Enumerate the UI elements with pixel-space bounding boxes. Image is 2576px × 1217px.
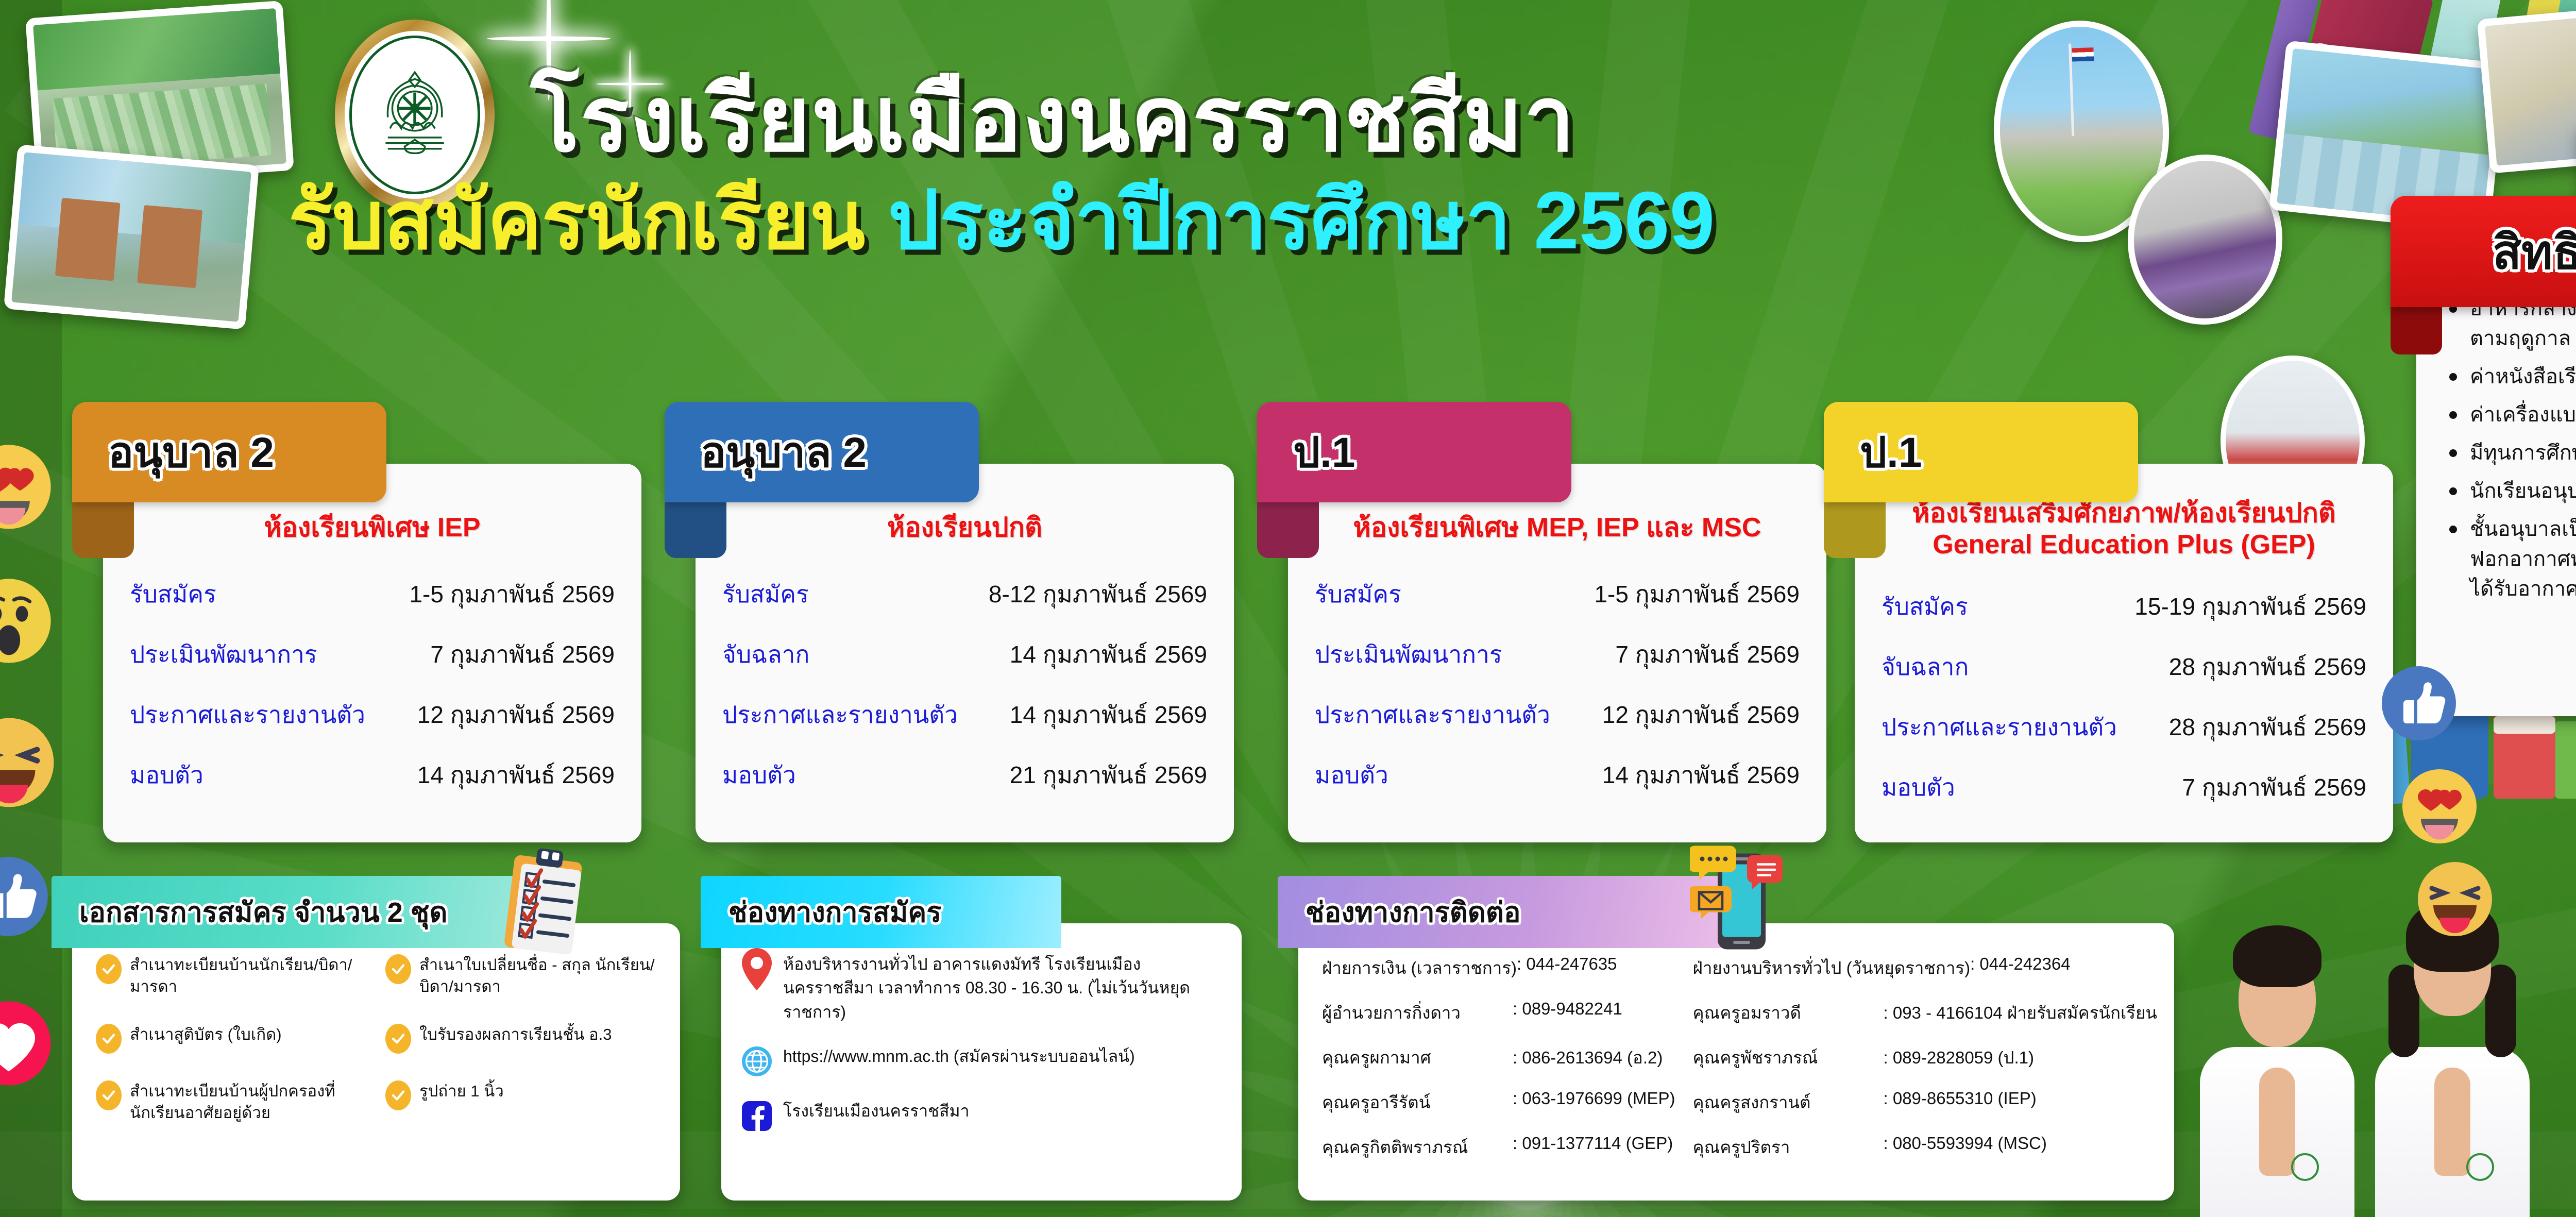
- card-tab-label: อนุบาล 2: [108, 419, 274, 486]
- schedule-row-label: ประกาศและรายงานตัว: [722, 696, 958, 734]
- contact-name: ฝ่ายการเงิน (เวลาราชการ): [1322, 954, 1517, 982]
- schedule-row: รับสมัคร1-5 กุมภาพันธ์ 2569: [130, 576, 615, 613]
- privilege-ribbon-fold: [2391, 306, 2442, 354]
- card-program-name: ห้องเรียนปกติ: [722, 512, 1207, 544]
- schedule-row: มอบตัว14 กุมภาพันธ์ 2569: [130, 756, 615, 794]
- apply-channel-row: https://www.mnm.ac.th (สมัครผ่านระบบออนไ…: [742, 1044, 1224, 1078]
- schedule-row-date: 7 กุมภาพันธ์ 2569: [2182, 769, 2366, 806]
- card-rows: รับสมัคร15-19 กุมภาพันธ์ 2569จับฉลาก28 ก…: [1882, 588, 2366, 806]
- contact-phone[interactable]: : 086-2613694 (อ.2): [1513, 1044, 1663, 1071]
- schedule-row: ประกาศและรายงานตัว14 กุมภาพันธ์ 2569: [722, 696, 1207, 734]
- location-pin-icon: [742, 952, 772, 986]
- schedule-row-date: 1-5 กุมภาพันธ์ 2569: [409, 576, 615, 613]
- privileges-title: สิทธิพิเศษ: [2493, 214, 2576, 290]
- schedule-row-label: มอบตัว: [1882, 769, 1955, 806]
- schedule-row-date: 15-19 กุมภาพันธ์ 2569: [2134, 588, 2366, 626]
- schedule-row-label: จับฉลาก: [1882, 648, 1969, 686]
- card-rows: รับสมัคร1-5 กุมภาพันธ์ 2569ประเมินพัฒนาก…: [130, 576, 615, 794]
- contact-name: คุณครูสงกรานต์: [1693, 1089, 1884, 1116]
- contact-row: คุณครูผกามาศ: 086-2613694 (อ.2): [1322, 1044, 1675, 1071]
- apply-channels-section: ห้องบริหารงานทั่วไป อาคารแดงมัทรี โรงเรี…: [701, 876, 1247, 1201]
- contact-section: ฝ่ายการเงิน (เวลาราชการ): 044-247635ฝ่าย…: [1278, 876, 2195, 1201]
- schedule-row-label: รับสมัคร: [722, 576, 809, 613]
- contact-name: คุณครูพัชราภรณ์: [1693, 1044, 1884, 1071]
- contact-row: คุณครูสงกรานต์: 089-8655310 (IEP): [1693, 1089, 2157, 1116]
- schedule-row-date: 21 กุมภาพันธ์ 2569: [1010, 756, 1207, 794]
- schedule-row: รับสมัคร8-12 กุมภาพันธ์ 2569: [722, 576, 1207, 613]
- apply-channel-text[interactable]: https://www.mnm.ac.th (สมัครผ่านระบบออนไ…: [783, 1044, 1135, 1068]
- contact-phone[interactable]: : 044-247635: [1517, 954, 1617, 982]
- subtitle-part-b: ประจำปีการศึกษา 2569: [888, 175, 1715, 266]
- card-tab-fold: [1824, 501, 1886, 558]
- contact-phone[interactable]: : 089-8655310 (IEP): [1884, 1089, 2037, 1116]
- apply-channel-row: ห้องบริหารงานทั่วไป อาคารแดงมัทรี โรงเรี…: [742, 952, 1224, 1024]
- document-item-label: สำเนาทะเบียนบ้านผู้ปกครองที่นักเรียนอาศั…: [130, 1080, 370, 1123]
- card-program-name: ห้องเรียนพิเศษ MEP, IEP และ MSC: [1315, 512, 1800, 544]
- card-tab-fold: [665, 501, 726, 558]
- contact-name: ผู้อำนวยการกิ่งดาว: [1322, 999, 1513, 1026]
- contact-panel: ฝ่ายการเงิน (เวลาราชการ): 044-247635ฝ่าย…: [1298, 923, 2174, 1201]
- schedule-row-label: รับสมัคร: [1882, 588, 1968, 626]
- schedule-row-date: 8-12 กุมภาพันธ์ 2569: [989, 576, 1207, 613]
- apply-channel-text[interactable]: โรงเรียนเมืองนครราชสีมา: [783, 1099, 970, 1123]
- check-icon: [385, 1024, 411, 1054]
- facebook-icon: [742, 1099, 772, 1133]
- contact-phone[interactable]: : 093 - 4166104 ฝ่ายรับสมัครนักเรียน: [1884, 999, 2157, 1026]
- contact-row: คุณครูอารีรัตน์: 063-1976699 (MEP): [1322, 1089, 1675, 1116]
- document-item-label: สำเนาสูติบัตร (ใบเกิด): [130, 1024, 282, 1045]
- card-rows: รับสมัคร1-5 กุมภาพันธ์ 2569ประเมินพัฒนาก…: [1315, 576, 1800, 794]
- document-item: สำเนาทะเบียนบ้านผู้ปกครองที่นักเรียนอาศั…: [96, 1080, 370, 1123]
- schedule-row: มอบตัว21 กุมภาพันธ์ 2569: [722, 756, 1207, 794]
- contact-name: คุณครูปริตรา: [1693, 1134, 1884, 1161]
- apply-channels-panel: ห้องบริหารงานทั่วไป อาคารแดงมัทรี โรงเรี…: [721, 923, 1242, 1201]
- contact-row: คุณครูกิตติพราภรณ์: 091-1377114 (GEP): [1322, 1134, 1675, 1161]
- schedule-row: ประเมินพัฒนาการ7 กุมภาพันธ์ 2569: [130, 636, 615, 673]
- card-tab: อนุบาล 2: [72, 402, 386, 502]
- schedule-row-label: มอบตัว: [1315, 756, 1388, 794]
- globe-icon: [742, 1046, 772, 1076]
- contact-phone[interactable]: : 089-9482241: [1513, 999, 1622, 1026]
- card-tab-label: ป.1: [1293, 419, 1355, 486]
- schedule-row-date: 14 กุมภาพันธ์ 2569: [1602, 756, 1800, 794]
- document-item-label: ใบรับรองผลการเรียนชั้น อ.3: [419, 1024, 612, 1045]
- card-tab: อนุบาล 2: [665, 402, 979, 502]
- schedule-row-date: 28 กุมภาพันธ์ 2569: [2169, 708, 2366, 746]
- privilege-item: ชั้นอนุบาลเป็นห้องเรียนปรับอากาศทุกห้อง …: [2446, 514, 2576, 604]
- document-item-label: สำเนาทะเบียนบ้านนักเรียน/บิดา/มารดา: [130, 954, 370, 997]
- document-item: สำเนาทะเบียนบ้านนักเรียน/บิดา/มารดา: [96, 954, 370, 997]
- check-icon: [96, 954, 122, 984]
- clipboard-icon: [499, 843, 589, 961]
- schedule-row: มอบตัว14 กุมภาพันธ์ 2569: [1315, 756, 1800, 794]
- contact-name: คุณครูกิตติพราภรณ์: [1322, 1134, 1513, 1161]
- contact-row: คุณครูปริตรา: 080-5593994 (MSC): [1693, 1134, 2157, 1161]
- schedule-row-label: ประกาศและรายงานตัว: [1882, 708, 2117, 746]
- photo-students-greeting: [2179, 886, 2571, 1217]
- contact-phone[interactable]: : 080-5593994 (MSC): [1884, 1134, 2047, 1161]
- wow-emoji: [0, 577, 53, 665]
- card-body: ห้องเรียนพิเศษ IEPรับสมัคร1-5 กุมภาพันธ์…: [103, 464, 641, 842]
- apply-channel-text[interactable]: ห้องบริหารงานทั่วไป อาคารแดงมัทรี โรงเรี…: [783, 952, 1224, 1024]
- like-emoji: [0, 855, 49, 938]
- love-emoji: [0, 1000, 53, 1087]
- privileges-header: สิทธิพิเศษ: [2391, 196, 2576, 307]
- program-line-1: ห้องเรียนเสริมศักยภาพ/ห้องเรียนปกติ: [1882, 498, 2366, 529]
- contact-phone[interactable]: : 044-242364: [1970, 954, 2071, 982]
- card-tab-label: ป.1: [1860, 419, 1922, 486]
- card-rows: รับสมัคร8-12 กุมภาพันธ์ 2569จับฉลาก14 กุ…: [722, 576, 1207, 794]
- schedule-row-date: 12 กุมภาพันธ์ 2569: [1602, 696, 1800, 734]
- document-item: สำเนาสูติบัตร (ใบเกิด): [96, 1024, 370, 1054]
- contact-phone[interactable]: : 091-1377114 (GEP): [1513, 1134, 1673, 1161]
- contact-name: คุณครูผกามาศ: [1322, 1044, 1513, 1071]
- card-body: ห้องเรียนเสริมศักยภาพ/ห้องเรียนปกติGener…: [1855, 464, 2393, 842]
- heart-eyes-emoji-mid: [2401, 768, 2478, 845]
- schedule-row-label: รับสมัคร: [130, 576, 216, 613]
- schedule-row-date: 12 กุมภาพันธ์ 2569: [417, 696, 615, 734]
- schedule-row-date: 7 กุมภาพันธ์ 2569: [430, 636, 615, 673]
- schedule-row: รับสมัคร15-19 กุมภาพันธ์ 2569: [1882, 588, 2366, 626]
- schedule-row-date: 14 กุมภาพันธ์ 2569: [417, 756, 615, 794]
- card-tab: ป.1: [1257, 402, 1571, 502]
- student-girl-figure: [2365, 908, 2540, 1217]
- schedule-row: ประเมินพัฒนาการ7 กุมภาพันธ์ 2569: [1315, 636, 1800, 673]
- schedule-card-2: ห้องเรียนพิเศษ MEP, IEP และ MSCรับสมัคร1…: [1257, 402, 1826, 842]
- globe-icon: [742, 1044, 772, 1078]
- haha-emoji-bottom: [2416, 860, 2494, 938]
- apply-channels-list: ห้องบริหารงานทั่วไป อาคารแดงมัทรี โรงเรี…: [742, 952, 1224, 1133]
- document-item: สำเนาใบเปลี่ยนชื่อ - สกุล นักเรียน/บิดา/…: [385, 954, 659, 997]
- photo-classroom-a: [2477, 2, 2576, 174]
- contact-row: คุณครูอมราวดี: 093 - 4166104 ฝ่ายรับสมัค…: [1693, 999, 2157, 1026]
- privileges-total: รวม 1,500 บาท: [2446, 615, 2576, 648]
- contact-row: ผู้อำนวยการกิ่งดาว: 089-9482241: [1322, 999, 1675, 1026]
- contact-phone[interactable]: : 089-2828059 (ป.1): [1884, 1044, 2034, 1071]
- document-item: รูปถ่าย 1 นิ้ว: [385, 1080, 659, 1123]
- documents-section: สำเนาทะเบียนบ้านนักเรียน/บิดา/มารดาสำเนา…: [52, 876, 680, 1201]
- program-line-2: General Education Plus (GEP): [1882, 529, 2366, 561]
- check-icon: [96, 1080, 122, 1110]
- schedule-row: จับฉลาก28 กุมภาพันธ์ 2569: [1882, 648, 2366, 686]
- apply-channels-title: ช่องทางการสมัคร: [728, 890, 941, 934]
- card-body: ห้องเรียนพิเศษ MEP, IEP และ MSCรับสมัคร1…: [1288, 464, 1826, 842]
- like-emoji-mid: [2380, 665, 2458, 742]
- schedule-row-label: มอบตัว: [722, 756, 796, 794]
- card-program-name: ห้องเรียนเสริมศักยภาพ/ห้องเรียนปกติGener…: [1882, 498, 2366, 561]
- card-tab-fold: [72, 501, 134, 558]
- card-program-name: ห้องเรียนพิเศษ IEP: [130, 512, 615, 544]
- schedule-row-date: 14 กุมภาพันธ์ 2569: [1010, 636, 1207, 673]
- contact-phone[interactable]: : 063-1976699 (MEP): [1513, 1089, 1675, 1116]
- schedule-row-label: ประกาศและรายงานตัว: [1315, 696, 1550, 734]
- document-item-label: สำเนาใบเปลี่ยนชื่อ - สกุล นักเรียน/บิดา/…: [419, 954, 659, 997]
- schedule-row: ประกาศและรายงานตัว28 กุมภาพันธ์ 2569: [1882, 708, 2366, 746]
- privilege-item: ค่าเครื่องแบบนักเรียน: [2446, 400, 2576, 430]
- documents-panel: สำเนาทะเบียนบ้านนักเรียน/บิดา/มารดาสำเนา…: [72, 923, 680, 1201]
- contact-grid: ฝ่ายการเงิน (เวลาราชการ): 044-247635ฝ่าย…: [1322, 954, 2154, 1161]
- documents-grid: สำเนาทะเบียนบ้านนักเรียน/บิดา/มารดาสำเนา…: [96, 954, 659, 1123]
- schedule-card-1: ห้องเรียนปกติรับสมัคร8-12 กุมภาพันธ์ 256…: [665, 402, 1234, 842]
- contact-row: คุณครูพัชราภรณ์: 089-2828059 (ป.1): [1693, 1044, 2157, 1071]
- card-body: ห้องเรียนปกติรับสมัคร8-12 กุมภาพันธ์ 256…: [696, 464, 1234, 842]
- subtitle-part-a: รับสมัครนักเรียน: [289, 175, 888, 266]
- check-icon: [385, 1080, 411, 1110]
- contact-header: ช่องทางการติดต่อ: [1278, 876, 1741, 948]
- schedule-card-3: ห้องเรียนเสริมศักยภาพ/ห้องเรียนปกติGener…: [1824, 402, 2393, 842]
- apply-channel-row: โรงเรียนเมืองนครราชสีมา: [742, 1099, 1224, 1133]
- schedule-row-date: 7 กุมภาพันธ์ 2569: [1615, 636, 1800, 673]
- contact-row: ฝ่ายการเงิน (เวลาราชการ): 044-247635: [1322, 954, 1675, 982]
- privilege-item: นักเรียนอนุบาล 2 ได้รับเสื้อพละฟรี: [2446, 476, 2576, 506]
- schedule-row-label: ประเมินพัฒนาการ: [1315, 636, 1502, 673]
- schedule-row: ประกาศและรายงานตัว12 กุมภาพันธ์ 2569: [1315, 696, 1800, 734]
- check-icon: [385, 954, 411, 984]
- schedule-row: ประกาศและรายงานตัว12 กุมภาพันธ์ 2569: [130, 696, 615, 734]
- schedule-row: จับฉลาก14 กุมภาพันธ์ 2569: [722, 636, 1207, 673]
- document-item-label: รูปถ่าย 1 นิ้ว: [419, 1080, 504, 1102]
- card-tab: ป.1: [1824, 402, 2138, 502]
- contact-title: ช่องทางการติดต่อ: [1306, 890, 1520, 934]
- apply-channels-header: ช่องทางการสมัคร: [701, 876, 1061, 948]
- card-tab-fold: [1257, 501, 1319, 558]
- heart-eyes-emoji: [0, 443, 53, 531]
- documents-title: เอกสารการสมัคร จำนวน 2 ชุด: [79, 890, 447, 934]
- schedule-row-label: จับฉลาก: [722, 636, 809, 673]
- schedule-row-label: ประกาศและรายงานตัว: [130, 696, 365, 734]
- documents-header: เอกสารการสมัคร จำนวน 2 ชุด: [52, 876, 536, 948]
- haha-emoji: [0, 716, 56, 809]
- privileges-list: อาหารกลางวันเลิศรส สด สะอาด ถูกหลักอนามั…: [2446, 294, 2576, 604]
- schedule-row-date: 1-5 กุมภาพันธ์ 2569: [1594, 576, 1800, 613]
- card-tab-label: อนุบาล 2: [701, 419, 867, 486]
- schedule-row-date: 14 กุมภาพันธ์ 2569: [1010, 696, 1207, 734]
- mobile-chat-icon: [1690, 840, 1783, 958]
- page-subtitle: รับสมัครนักเรียน ประจำปีการศึกษา 2569: [289, 155, 1715, 284]
- schedule-row-label: ประเมินพัฒนาการ: [130, 636, 317, 673]
- facebook-icon: [742, 1101, 772, 1131]
- contact-name: คุณครูอารีรัตน์: [1322, 1089, 1513, 1116]
- schedule-row-label: รับสมัคร: [1315, 576, 1401, 613]
- schedule-row: มอบตัว7 กุมภาพันธ์ 2569: [1882, 769, 2366, 806]
- schedule-row: รับสมัคร1-5 กุมภาพันธ์ 2569: [1315, 576, 1800, 613]
- check-icon: [96, 1024, 122, 1054]
- privilege-item: มีทุนการศึกษาสนับสนุน: [2446, 438, 2576, 468]
- student-boy-figure: [2190, 928, 2365, 1217]
- schedule-row-date: 28 กุมภาพันธ์ 2569: [2169, 648, 2366, 686]
- privilege-item: ค่าหนังสือเรียนและค่าอุปกรณ์การเรียน: [2446, 362, 2576, 392]
- schedule-card-0: ห้องเรียนพิเศษ IEPรับสมัคร1-5 กุมภาพันธ์…: [72, 402, 641, 842]
- photo-kindergarten-activity: [4, 144, 259, 330]
- document-item: ใบรับรองผลการเรียนชั้น อ.3: [385, 1024, 659, 1054]
- schedule-row-label: มอบตัว: [130, 756, 204, 794]
- location-pin-icon: [742, 948, 772, 990]
- contact-name: คุณครูอมราวดี: [1693, 999, 1884, 1026]
